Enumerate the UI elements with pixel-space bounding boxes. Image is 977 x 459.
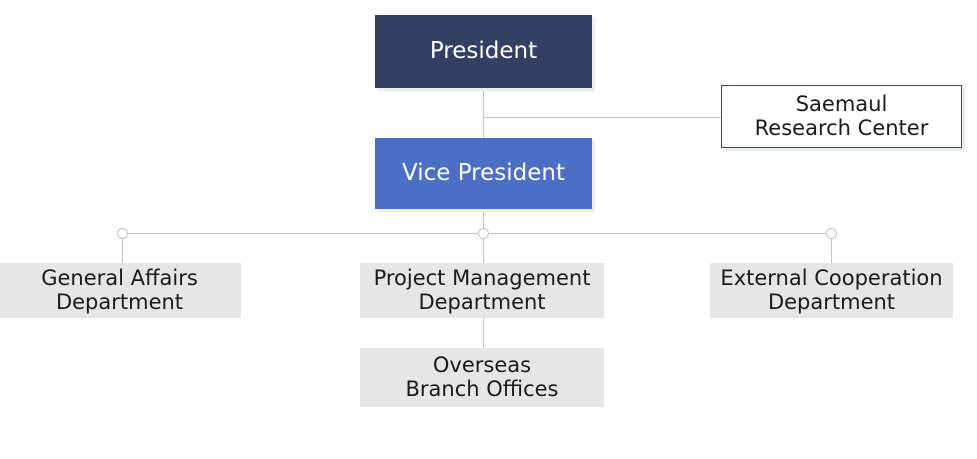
node-overseas-branch-offices[interactable]: Overseas Branch Offices [360,348,604,407]
node-research-center[interactable]: Saemaul Research Center [721,85,962,148]
connector-president-to-research-center [483,117,721,118]
node-research-center-label: Saemaul Research Center [722,93,961,140]
node-president-label: President [375,39,592,65]
connector-president-to-vice-president [483,88,484,138]
node-vice-president-label: Vice President [375,161,592,187]
joint-general-affairs [117,228,128,239]
org-chart: President Vice President Saemaul Researc… [0,0,977,459]
node-overseas-branch-offices-label: Overseas Branch Offices [360,354,604,401]
node-project-management-department-label: Project Management Department [360,267,604,314]
joint-external-cooperation [826,228,837,239]
joint-project-management [478,228,489,239]
node-general-affairs-department-label: General Affairs Department [0,267,241,314]
node-external-cooperation-department[interactable]: External Cooperation Department [710,263,953,318]
node-project-management-department[interactable]: Project Management Department [360,263,604,318]
node-president[interactable]: President [375,15,592,88]
connector-department-bus [122,233,831,234]
node-vice-president[interactable]: Vice President [375,138,592,209]
node-general-affairs-department[interactable]: General Affairs Department [0,263,241,318]
node-external-cooperation-department-label: External Cooperation Department [710,267,953,314]
